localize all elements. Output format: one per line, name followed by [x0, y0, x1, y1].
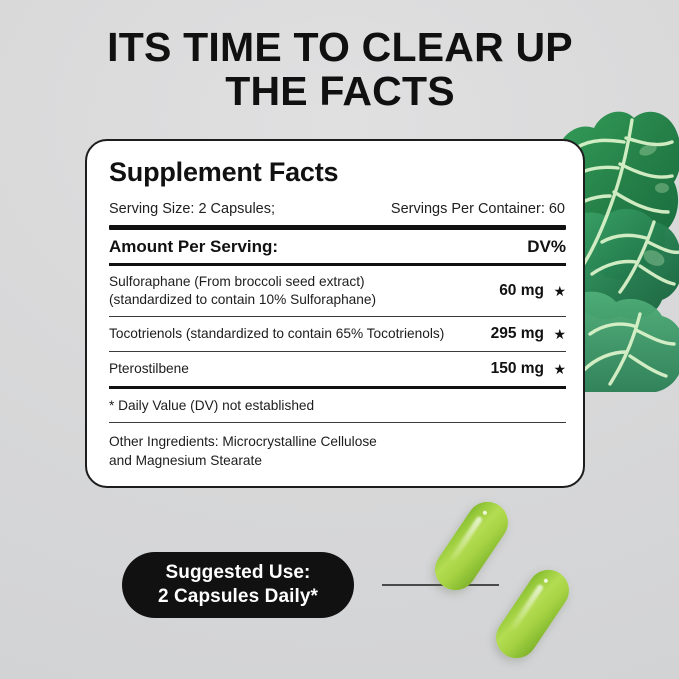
suggested-use-line-2: 2 Capsules Daily* — [158, 585, 318, 609]
table-row: Sulforaphane (From broccoli seed extract… — [109, 266, 566, 316]
serving-size-label: Serving Size: 2 Capsules; — [109, 201, 275, 217]
serving-info-row: Serving Size: 2 Capsules; Servings Per C… — [109, 201, 566, 225]
table-row: Pterostilbene 150 mg ★ — [109, 352, 566, 386]
capsule-highlight — [449, 516, 483, 562]
suggested-use-line-1: Suggested Use: — [166, 561, 311, 585]
ingredient-dv-asterisk: ★ — [544, 284, 566, 298]
capsule-image-2 — [488, 562, 577, 666]
ingredient-dv-asterisk: ★ — [544, 362, 566, 376]
suggested-use-badge: Suggested Use: 2 Capsules Daily* — [122, 552, 354, 618]
supplement-facts-content: Supplement Facts Serving Size: 2 Capsule… — [109, 157, 566, 470]
ingredient-name: Pterostilbene — [109, 360, 491, 378]
servings-per-container-label: Servings Per Container: 60 — [391, 201, 566, 217]
capsule-specular-dot — [543, 578, 549, 584]
ingredient-amount: 60 mg — [499, 282, 544, 300]
headline-line-1: ITS TIME TO CLEAR UP — [107, 24, 573, 70]
ingredient-name: Sulforaphane (From broccoli seed extract… — [109, 273, 499, 309]
table-row: Tocotrienols (standardized to contain 65… — [109, 317, 566, 351]
capsule-specular-dot — [482, 510, 488, 516]
daily-value-header-label: DV% — [527, 237, 566, 257]
daily-value-footnote: * Daily Value (DV) not established — [109, 389, 566, 422]
amount-per-serving-label: Amount Per Serving: — [109, 237, 278, 257]
ingredient-amount: 295 mg — [491, 325, 544, 343]
ingredient-dv-asterisk: ★ — [544, 327, 566, 341]
capsule-image-1 — [427, 494, 516, 598]
amount-per-serving-header-row: Amount Per Serving: DV% — [109, 230, 566, 263]
supplement-label-page: ITS TIME TO CLEAR UP THE FACTS — [0, 0, 679, 679]
supplement-facts-card: Supplement Facts Serving Size: 2 Capsule… — [85, 139, 585, 488]
capsule-highlight — [510, 584, 544, 630]
ingredient-name: Tocotrienols (standardized to contain 65… — [109, 325, 491, 343]
ingredient-amount: 150 mg — [491, 360, 544, 378]
other-ingredients-text: Other Ingredients: Microcrystalline Cell… — [109, 423, 566, 470]
supplement-facts-title: Supplement Facts — [109, 157, 566, 188]
